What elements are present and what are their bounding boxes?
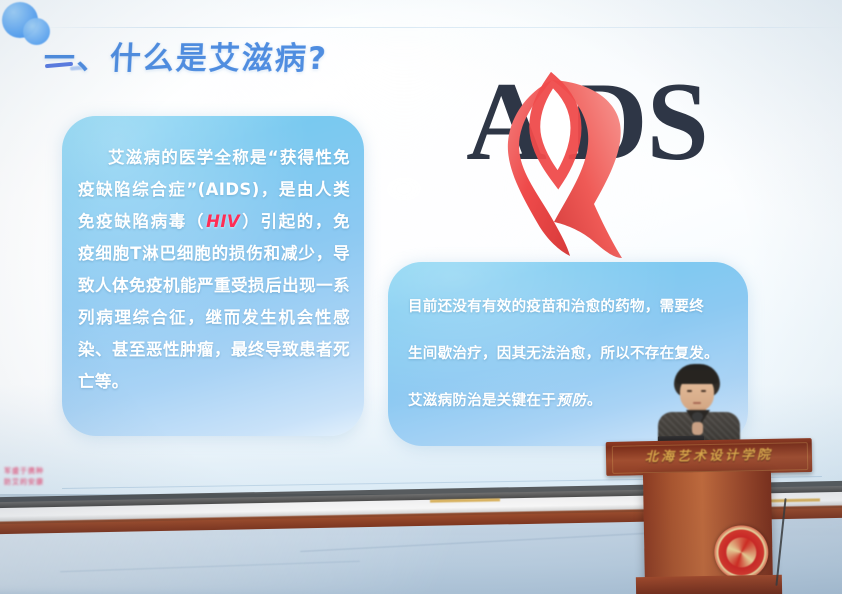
prevention-line-1: 目前还没有有效的疫苗和治愈的药物，需要终 <box>408 284 730 331</box>
institution-emblem-icon <box>714 525 769 580</box>
definition-text-part2: ）引起的，免疫细胞T淋巴细胞的损伤和减少，导致人体免疫机能严重受损后出现一系列病… <box>78 212 350 391</box>
slide-panel-definition: 艾滋病的医学全称是“获得性免疫缺陷综合症”(AIDS)，是由人类免疫缺陷病毒（H… <box>62 116 364 436</box>
podium-cable <box>775 498 786 586</box>
screenshot-root: 一、什么是艾滋病? A DS <box>0 0 842 594</box>
panel-prevention-text: 目前还没有有效的疫苗和治愈的药物，需要终 生间歇治疗，因其无法治愈，所以不存在复… <box>408 284 730 425</box>
prevention-line3-after: 。 <box>587 393 602 409</box>
prevention-line-3: 艾滋病防治是关键在于预防。 <box>408 378 730 425</box>
side-banner-line-1: 军盛于携种 <box>4 466 58 477</box>
prevention-line3-before: 艾滋病防治是关键在于 <box>408 393 556 409</box>
slide-panel-prevention: 目前还没有有效的疫苗和治愈的药物，需要终 生间歇治疗，因其无法治愈，所以不存在复… <box>388 262 748 446</box>
prevention-line-2: 生间歇治疗，因其无法治愈，所以不存在复发。 <box>408 331 730 378</box>
side-banner-text: 军盛于携种 防艾的安康 <box>4 466 58 492</box>
hiv-highlight: HIV <box>205 212 241 231</box>
podium-base <box>636 575 782 594</box>
podium-nameplate-panel: 北海艺术设计学院 <box>606 438 813 476</box>
slide-title: 一、什么是艾滋病? <box>43 33 329 78</box>
side-banner-line-2: 防艾的安康 <box>4 477 58 488</box>
emblem-spiral-icon <box>726 537 757 568</box>
prevention-emphasis: 预防 <box>556 393 587 409</box>
slide-hairline-rule <box>36 27 842 28</box>
aids-logo: A DS <box>424 62 750 258</box>
panel-definition-text: 艾滋病的医学全称是“获得性免疫缺陷综合症”(AIDS)，是由人类免疫缺陷病毒（H… <box>78 142 350 398</box>
red-awareness-ribbon-icon <box>494 72 634 258</box>
podium-institution-name: 北海艺术设计学院 <box>606 443 812 466</box>
podium: 北海艺术设计学院 <box>598 436 842 594</box>
